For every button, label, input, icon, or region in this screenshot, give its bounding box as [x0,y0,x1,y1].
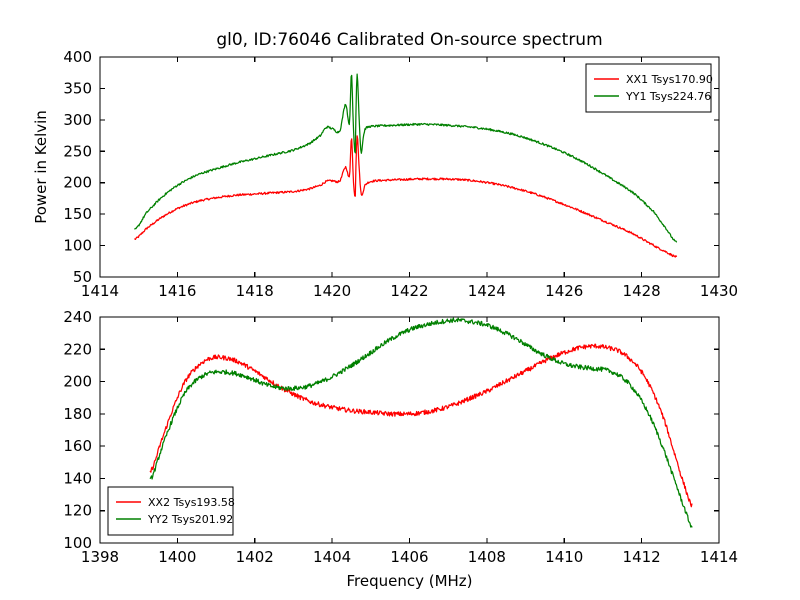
y-tick-label-top: 250 [63,142,92,160]
plot-canvas: 1414141614181420142214241426142814305010… [0,0,800,600]
x-tick-label-bottom: 1400 [158,548,196,566]
x-tick-label-top: 1420 [313,282,351,300]
y-tick-label-top: 50 [73,268,92,286]
x-tick-label-top: 1424 [468,282,506,300]
x-tick-label-bottom: 1412 [623,548,661,566]
y-tick-label-bottom: 160 [63,437,92,455]
y-tick-label-bottom: 140 [63,469,92,487]
legend-top[interactable]: XX1 Tsys170.90YY1 Tsys224.76 [586,64,713,112]
legend-label-yy1: YY1 Tsys224.76 [625,90,711,103]
y-tick-label-top: 200 [63,174,92,192]
y-tick-label-bottom: 180 [63,405,92,423]
x-tick-label-top: 1418 [236,282,274,300]
y-tick-label-bottom: 200 [63,373,92,391]
x-tick-label-bottom: 1404 [313,548,351,566]
y-tick-label-top: 100 [63,237,92,255]
trace-xx1 [135,136,677,257]
x-tick-label-bottom: 1408 [468,548,506,566]
x-tick-label-top: 1428 [623,282,661,300]
legend-label-yy2: YY2 Tsys201.92 [147,513,233,526]
legend-bottom[interactable]: XX2 Tsys193.58YY2 Tsys201.92 [108,487,235,535]
x-tick-label-top: 1416 [158,282,196,300]
legend-box-top [586,64,711,112]
legend-label-xx1: XX1 Tsys170.90 [626,73,713,86]
panel-top: 1414141614181420142214241426142814305010… [32,30,738,300]
trace-xx2 [150,344,692,506]
x-axis-label-bottom: Frequency (MHz) [346,572,472,590]
panel-bottom: 1398140014021404140614081410141214141001… [63,308,738,590]
y-tick-label-bottom: 120 [63,502,92,520]
x-tick-label-top: 1430 [700,282,738,300]
x-tick-label-bottom: 1402 [236,548,274,566]
y-tick-label-top: 350 [63,79,92,97]
y-tick-label-top: 300 [63,111,92,129]
x-tick-label-bottom: 1414 [700,548,738,566]
x-tick-label-bottom: 1410 [545,548,583,566]
y-tick-label-bottom: 220 [63,340,92,358]
legend-label-xx2: XX2 Tsys193.58 [148,496,235,509]
y-tick-label-bottom: 100 [63,534,92,552]
y-axis-label-top: Power in Kelvin [32,110,50,224]
spectrum-figure: 1414141614181420142214241426142814305010… [0,0,800,600]
plot-title: gl0, ID:76046 Calibrated On-source spect… [216,30,602,50]
x-tick-label-bottom: 1406 [390,548,428,566]
x-tick-label-top: 1422 [390,282,428,300]
y-tick-label-top: 400 [63,48,92,66]
legend-box-bottom [108,487,233,535]
y-tick-label-top: 150 [63,205,92,223]
y-tick-label-bottom: 240 [63,308,92,326]
x-tick-label-top: 1426 [545,282,583,300]
